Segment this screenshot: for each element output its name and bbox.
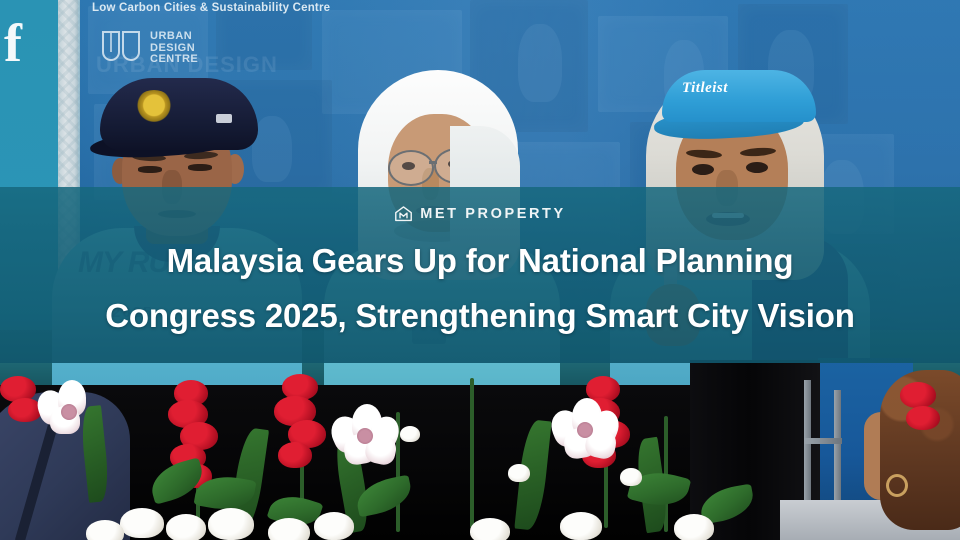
red-gladiolus (274, 374, 330, 494)
black-cap (100, 78, 258, 150)
eyeglasses-left-lens (388, 150, 434, 186)
watermark: MET PROPERTY (0, 205, 960, 222)
headline-overlay-band: MET PROPERTY Malaysia Gears Up for Natio… (0, 187, 960, 363)
backdrop-tagline: Low Carbon Cities & Sustainability Centr… (92, 2, 330, 14)
red-gladiolus (900, 382, 956, 502)
headline-line-2: Congress 2025, Strengthening Smart City … (28, 288, 932, 343)
white-magnolia (550, 398, 620, 462)
headline: Malaysia Gears Up for National Planning … (0, 233, 960, 343)
headline-line-1: Malaysia Gears Up for National Planning (28, 233, 932, 288)
facebook-f-icon: f (4, 16, 22, 70)
white-magnolia (330, 404, 400, 468)
house-with-m-icon (394, 205, 413, 222)
article-hero-image: f Low Carbon Cities & Sustainability Cen… (0, 0, 960, 540)
white-magnolia (34, 380, 104, 444)
watermark-brand: MET PROPERTY (420, 206, 566, 222)
cap-badge-icon (134, 90, 174, 124)
flower-arrangement (0, 372, 960, 540)
visor-brand-text: Titleist (682, 80, 728, 97)
